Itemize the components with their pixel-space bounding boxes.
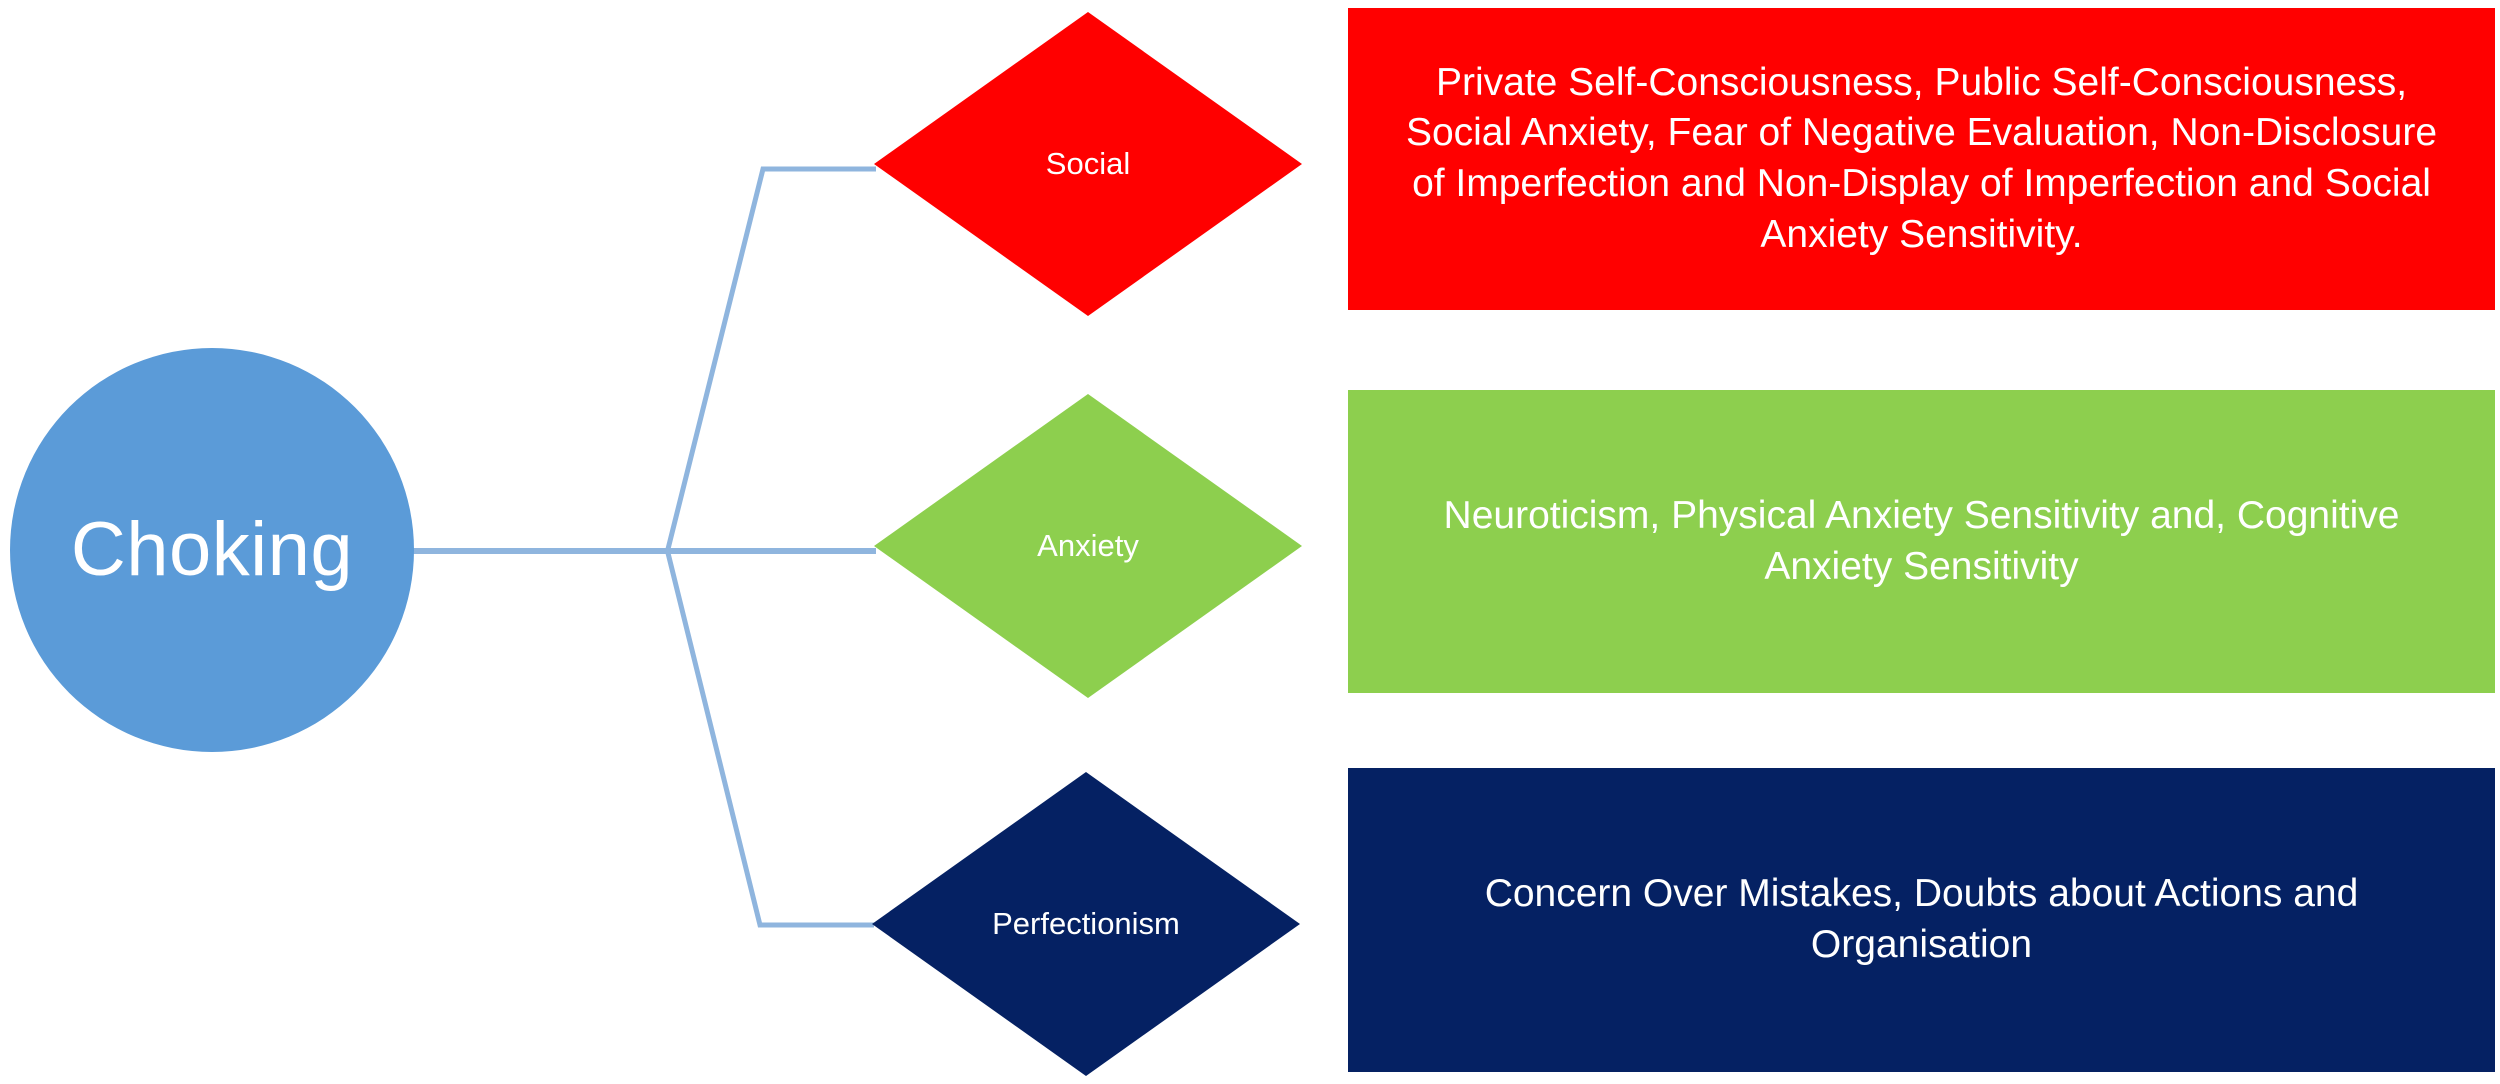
node-perfectionism[interactable]: Perfectionism: [872, 772, 1300, 1076]
choking-concept-diagram: Choking Social Private Self-Consciousnes…: [0, 0, 2500, 1084]
node-anxiety[interactable]: Anxiety: [874, 394, 1302, 698]
detail-text-perfectionism: Concern Over Mistakes, Doubts about Acti…: [1390, 869, 2453, 970]
node-label-social: Social: [874, 12, 1302, 316]
detail-text-social: Private Self-Consciousness, Public Self-…: [1390, 58, 2453, 261]
node-social[interactable]: Social: [874, 12, 1302, 316]
node-label-perfectionism: Perfectionism: [872, 772, 1300, 1076]
root-node-label: Choking: [71, 512, 353, 588]
root-node-choking[interactable]: Choking: [10, 348, 414, 752]
detail-box-anxiety: Neuroticism, Physical Anxiety Sensitivit…: [1348, 390, 2495, 693]
detail-box-social: Private Self-Consciousness, Public Self-…: [1348, 8, 2495, 310]
detail-text-anxiety: Neuroticism, Physical Anxiety Sensitivit…: [1390, 491, 2453, 592]
node-label-anxiety: Anxiety: [874, 394, 1302, 698]
connector-to-perfectionism: [667, 549, 874, 925]
detail-box-perfectionism: Concern Over Mistakes, Doubts about Acti…: [1348, 768, 2495, 1072]
connector-to-social: [667, 169, 876, 553]
